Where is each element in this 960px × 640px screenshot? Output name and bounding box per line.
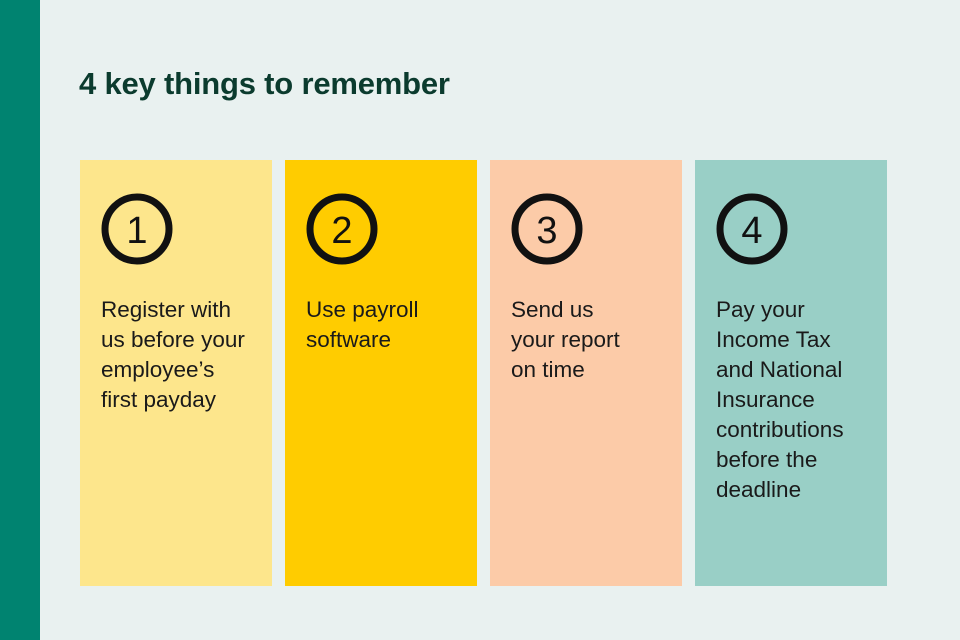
card-step-3: 3 Send us your report on time (490, 160, 682, 586)
left-accent-bar (0, 0, 40, 640)
card-text-4: Pay your Income Tax and National Insuran… (716, 295, 876, 505)
badge-number-3: 3 (536, 210, 557, 252)
cards-row: 1 Register with us before your employee’… (80, 160, 887, 586)
card-text-3: Send us your report on time (511, 295, 671, 385)
numbered-circle-icon: 3 (511, 193, 583, 265)
numbered-circle-icon: 2 (306, 193, 378, 265)
page-title: 4 key things to remember (79, 65, 450, 103)
badge-number-1: 1 (126, 210, 147, 252)
card-text-2: Use payroll software (306, 295, 466, 355)
card-step-1: 1 Register with us before your employee’… (80, 160, 272, 586)
badge-number-4: 4 (741, 210, 762, 252)
card-step-2: 2 Use payroll software (285, 160, 477, 586)
card-step-4: 4 Pay your Income Tax and National Insur… (695, 160, 887, 586)
numbered-circle-icon: 4 (716, 193, 788, 265)
card-text-1: Register with us before your employee’s … (101, 295, 261, 415)
numbered-circle-icon: 1 (101, 193, 173, 265)
infographic-page: 4 key things to remember 1 Register with… (0, 0, 960, 640)
badge-number-2: 2 (331, 210, 352, 252)
